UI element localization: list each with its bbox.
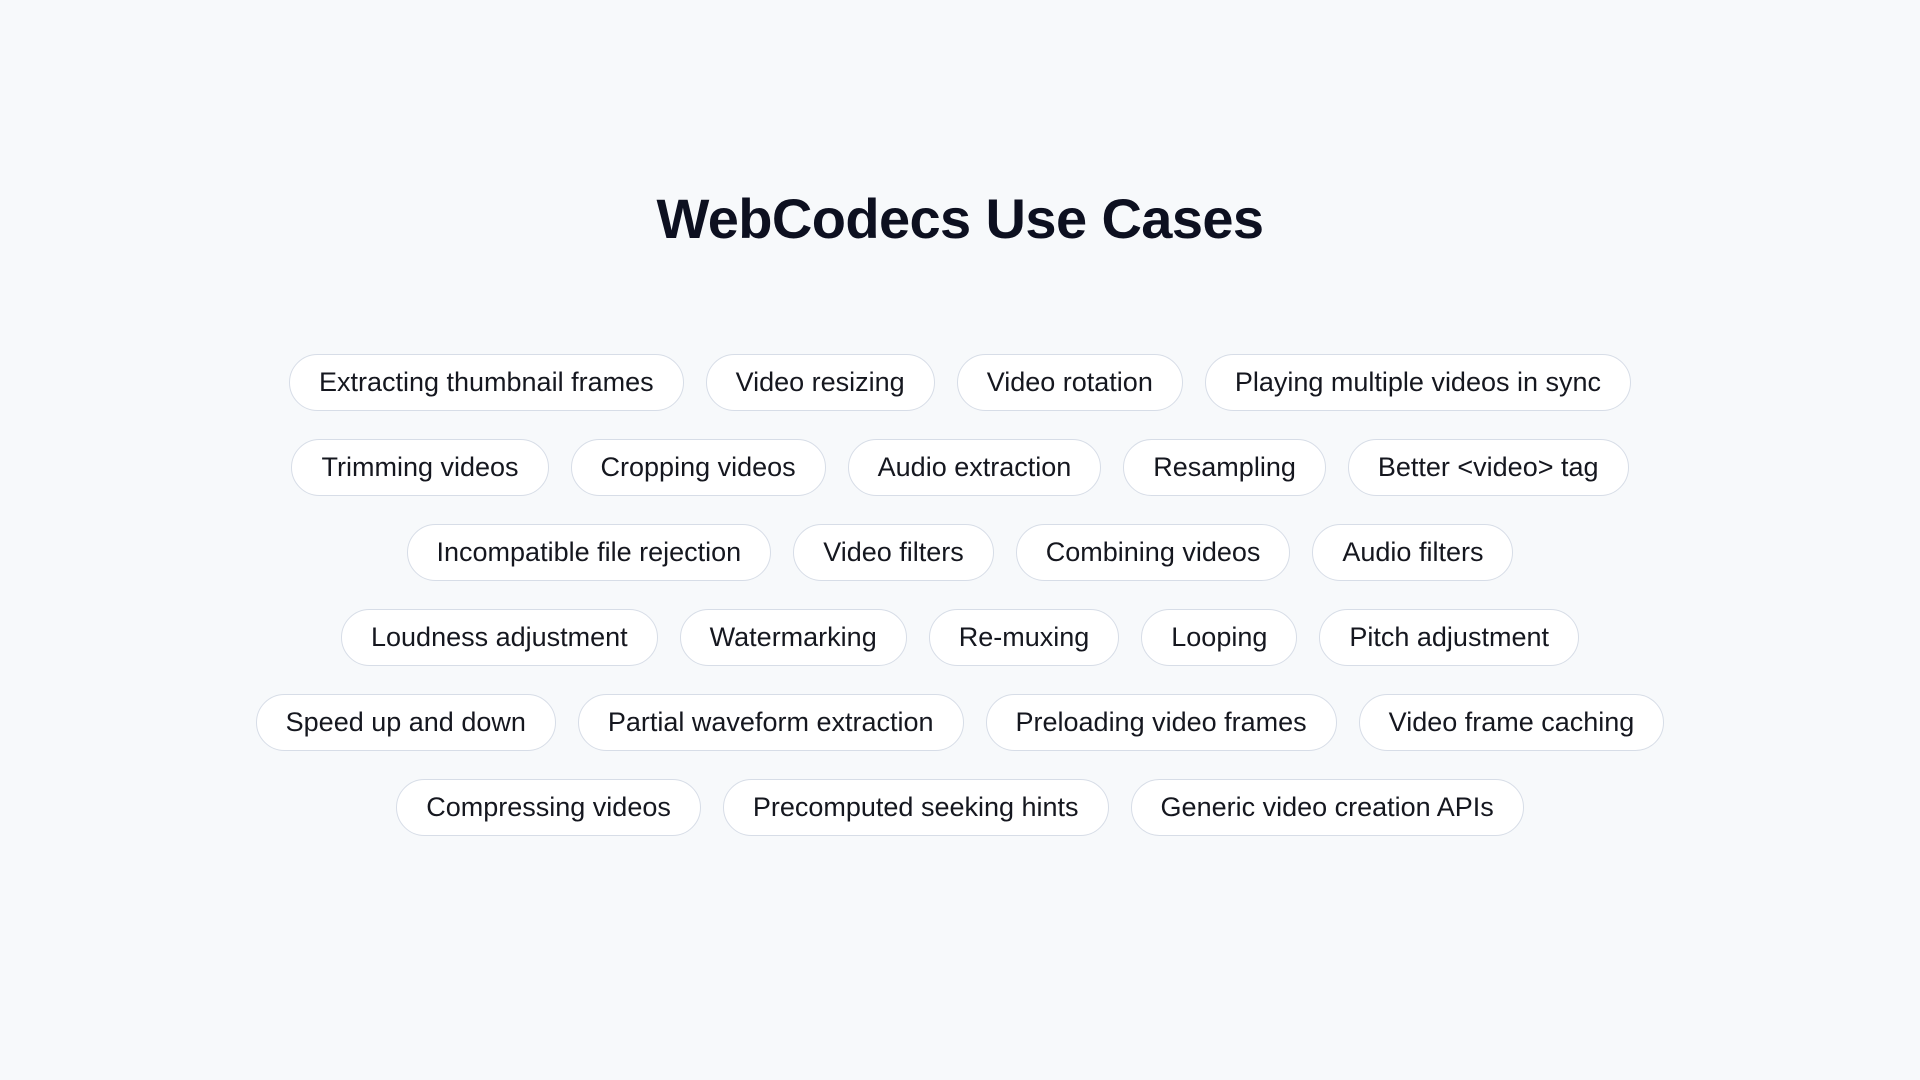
page-title: WebCodecs Use Cases: [657, 188, 1264, 251]
tag-item[interactable]: Speed up and down: [256, 694, 556, 751]
tag-cloud: Extracting thumbnail frames Video resizi…: [150, 354, 1770, 836]
tag-row: Incompatible file rejection Video filter…: [150, 524, 1770, 581]
tag-item[interactable]: Video filters: [793, 524, 994, 581]
tag-item[interactable]: Video frame caching: [1359, 694, 1665, 751]
tag-item[interactable]: Compressing videos: [396, 779, 701, 836]
tag-item[interactable]: Combining videos: [1016, 524, 1291, 581]
tag-item[interactable]: Trimming videos: [291, 439, 548, 496]
tag-item[interactable]: Better <video> tag: [1348, 439, 1629, 496]
tag-item[interactable]: Extracting thumbnail frames: [289, 354, 684, 411]
tag-row: Trimming videos Cropping videos Audio ex…: [150, 439, 1770, 496]
tag-item[interactable]: Watermarking: [680, 609, 907, 666]
page-root: WebCodecs Use Cases Extracting thumbnail…: [0, 0, 1920, 1080]
tag-item[interactable]: Pitch adjustment: [1319, 609, 1579, 666]
tag-item[interactable]: Incompatible file rejection: [407, 524, 772, 581]
tag-item[interactable]: Video rotation: [957, 354, 1183, 411]
tag-item[interactable]: Video resizing: [706, 354, 935, 411]
tag-item[interactable]: Generic video creation APIs: [1131, 779, 1524, 836]
tag-row: Extracting thumbnail frames Video resizi…: [150, 354, 1770, 411]
tag-item[interactable]: Precomputed seeking hints: [723, 779, 1109, 836]
tag-item[interactable]: Loudness adjustment: [341, 609, 658, 666]
tag-item[interactable]: Audio filters: [1312, 524, 1513, 581]
tag-item[interactable]: Preloading video frames: [986, 694, 1337, 751]
tag-row: Loudness adjustment Watermarking Re-muxi…: [150, 609, 1770, 666]
tag-item[interactable]: Playing multiple videos in sync: [1205, 354, 1631, 411]
tag-item[interactable]: Re-muxing: [929, 609, 1120, 666]
tag-row: Compressing videos Precomputed seeking h…: [150, 779, 1770, 836]
tag-item[interactable]: Partial waveform extraction: [578, 694, 964, 751]
tag-item[interactable]: Audio extraction: [848, 439, 1102, 496]
tag-item[interactable]: Cropping videos: [571, 439, 826, 496]
tag-item[interactable]: Looping: [1141, 609, 1297, 666]
tag-row: Speed up and down Partial waveform extra…: [150, 694, 1770, 751]
tag-item[interactable]: Resampling: [1123, 439, 1326, 496]
